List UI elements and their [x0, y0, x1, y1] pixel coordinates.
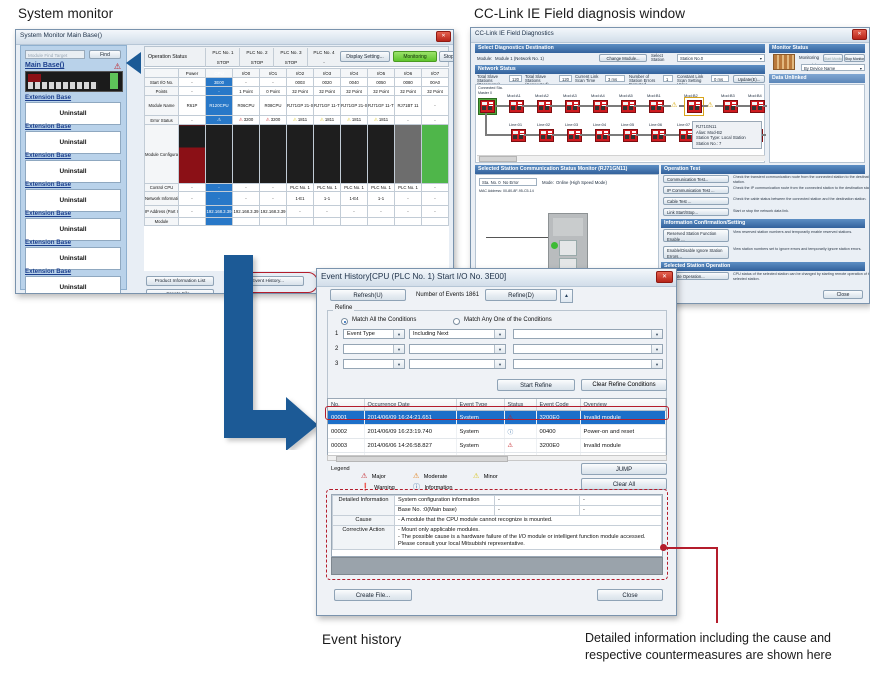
net-field-value-1: 120	[559, 75, 572, 82]
find-button[interactable]: Find	[89, 50, 121, 59]
line-node-01[interactable]	[511, 129, 526, 142]
station-node-b1[interactable]	[649, 100, 664, 113]
match-all-label: Match All the Conditions	[352, 317, 416, 323]
net-field-value-2: 3 ms	[605, 75, 625, 82]
station-node-a2[interactable]	[537, 100, 552, 113]
section-information-confirmation: Information Confirmation/Setting	[661, 219, 865, 228]
warning-triangle-icon: ⚠	[707, 102, 713, 109]
system-monitor-detail-panel: Operation Status PLC No. 1 STOP PLC No. …	[144, 46, 449, 271]
detail-highlight-dashed	[326, 489, 668, 580]
table-row-module-config: Module Configuration	[145, 125, 449, 184]
section-network-status: Network Status	[475, 65, 765, 74]
main-base-thumbnail	[25, 71, 123, 92]
cclink-titlebar: CC-Link IE Field Diagnostics ✕	[471, 28, 869, 43]
error-icon-major: ⚠	[217, 117, 221, 122]
ip-communication-test-desc: Check the IP communication route from th…	[733, 186, 870, 191]
line-node-06[interactable]	[651, 129, 666, 142]
refine-row-num-3: 3	[335, 361, 338, 367]
section-selected-station-operation: Selected Station Operation	[661, 262, 865, 271]
communication-test-button[interactable]: Communication Test...	[663, 175, 729, 183]
extension-base-1[interactable]: Extension BaseUninstall	[25, 94, 121, 125]
extension-base-6[interactable]: Extension BaseUninstall	[25, 239, 121, 270]
legend-side-panel	[769, 84, 865, 163]
select-station-label: Select Station	[651, 54, 675, 63]
refine-field-1[interactable]: Event Type▾	[343, 329, 405, 339]
match-any-label: Match Any One of the Conditions	[464, 317, 552, 323]
ignore-station-desc: View station numbers set to ignore error…	[733, 247, 870, 252]
plc-status-2: PLC No. 2 STOP	[239, 48, 274, 67]
operation-status-label: Operation Status	[148, 54, 187, 60]
error-icon-major: ⚠	[239, 117, 243, 122]
station-node-a1[interactable]	[509, 100, 524, 113]
line-node-03[interactable]	[567, 129, 582, 142]
update-button[interactable]: Update(E)...	[733, 75, 765, 83]
legend-label: Legend	[331, 466, 350, 472]
cclink-close-button[interactable]: Close	[823, 290, 863, 299]
link-start-stop-desc: Start or stop the network data link.	[733, 209, 870, 214]
selected-station-highlight[interactable]	[684, 97, 704, 116]
change-module-button[interactable]: Change Module...	[599, 54, 647, 62]
error-icon-minor: ⚠	[374, 117, 378, 122]
error-icon-minor: ⚠	[347, 117, 351, 122]
table-row: Control CPU - - - - PLC No. 1 PLC No. 1 …	[145, 184, 449, 192]
station-tooltip: RJ71GN11 Alias: Mod-B2 Station Type: Loc…	[692, 121, 762, 149]
number-of-events-label: Number of Events 1861	[416, 292, 479, 298]
table-header-row: Power CPU I/O0 I/O1 I/O2 I/O3 I/O4 I/O5 …	[145, 69, 449, 78]
section-select-destination: Select Diagnostics Destination	[475, 44, 765, 53]
enable-disable-ignore-station-button[interactable]: Enable/Disable Ignore Station Errors...	[663, 246, 729, 259]
selected-row-highlight	[325, 406, 669, 420]
station-node-a4[interactable]	[593, 100, 608, 113]
extension-base-7[interactable]: Extension BaseUninstall	[25, 268, 121, 294]
refine-row-num-2: 2	[335, 346, 338, 352]
table-row-error-status: Error Status - ⚠ ⚠ 3200 ⚠ 3200 ⚠ 1811 ⚠ …	[145, 116, 449, 125]
cclink-title: CC-Link IE Field Diagnostics	[475, 30, 554, 37]
table-row: Module Name R61P R120CPU R06CPU R08CPU R…	[145, 96, 449, 116]
module-value: Module 1 (Network No. 1)	[495, 56, 544, 61]
remote-operation-desc: CPU status of the selected station can b…	[733, 272, 870, 281]
station-no-field: Sta. No. 0 No Error	[479, 178, 537, 186]
event-history-title: Event History[CPU (PLC No. 1) Start I/O …	[321, 272, 506, 281]
device-name-select[interactable]: By Device Name▾	[801, 64, 865, 71]
clear-refine-conditions-button[interactable]	[581, 379, 667, 391]
table-row: IP Address (Part IPv4) - 192.168.3.39 19…	[145, 206, 449, 218]
refine-button[interactable]: Refine(D)	[485, 289, 557, 301]
table-row[interactable]: 00002 2014/06/09 16:23:19.740 System ⓘ 0…	[328, 425, 666, 439]
plc-status-3: PLC No. 3 STOP	[273, 48, 308, 67]
extension-base-2[interactable]: Extension BaseUninstall	[25, 123, 121, 154]
system-monitor-titlebar: System Monitor Main Base() ✕	[16, 30, 453, 45]
communication-test-desc: Check the transient communication route …	[733, 175, 870, 184]
legend-minor-icon: ⚠	[473, 473, 479, 480]
refine-field-3[interactable]: ▾	[343, 359, 405, 369]
master-station-node[interactable]	[478, 98, 497, 115]
operation-status-bar: Operation Status PLC No. 1 STOP PLC No. …	[144, 46, 449, 67]
table-row: Network Information (Part 3) - - - - 1-E…	[145, 192, 449, 206]
main-base-link[interactable]: Main Base()	[25, 62, 64, 69]
module-label: Module:	[477, 56, 492, 61]
table-row: Module	[145, 218, 449, 226]
callout-leader-vertical	[716, 547, 718, 623]
section-selected-station-monitor: Selected Station Communication Status Mo…	[475, 165, 659, 174]
system-monitor-title: System Monitor Main Base()	[20, 32, 102, 39]
table-row[interactable]: 00003 2014/06/06 14:26:58.827 System ⚠ 3…	[328, 439, 666, 453]
monitor-status-graphic	[773, 54, 795, 70]
line-node-04[interactable]	[595, 129, 610, 142]
refine-value-3[interactable]: ▾	[513, 359, 663, 369]
extension-base-3[interactable]: Extension BaseUninstall	[25, 152, 121, 183]
cclink-diagnostics-window: CC-Link IE Field Diagnostics ✕ Select Di…	[470, 27, 870, 304]
table-row: Points - - 1 Point 0 Point 32 Point 32 P…	[145, 87, 449, 96]
event-history-close-button[interactable]: Close	[597, 589, 663, 601]
refine-expand-icon[interactable]: ▲	[560, 289, 573, 303]
net-field-value-4: 0 ms	[711, 75, 729, 82]
reserved-station-function-button[interactable]: Reserved Station Function Enable ...	[663, 229, 729, 242]
connected-sta-label: Connected Sta.	[478, 86, 503, 90]
refine-operator-1[interactable]: Including Next▾	[409, 329, 506, 339]
match-all-radio[interactable]	[341, 318, 348, 325]
station-node-a5[interactable]	[621, 100, 636, 113]
net-field-value-3: 1	[663, 75, 673, 82]
refine-row-num-1: 1	[335, 331, 338, 337]
refine-value-2[interactable]: ▾	[513, 344, 663, 354]
error-icon-minor: ⚠	[320, 117, 324, 122]
diagram-hscrollbar[interactable]	[477, 155, 765, 161]
refresh-button[interactable]: Refresh(U)	[330, 289, 406, 301]
extension-base-5[interactable]: Extension BaseUninstall	[25, 210, 121, 241]
plc-status-1: PLC No. 1 STOP	[205, 48, 240, 67]
refine-operator-2[interactable]: ▾	[409, 344, 506, 354]
cable-test-button[interactable]: Cable Test ...	[663, 197, 729, 205]
stop-monitoring-button[interactable]: Stop Monitoring	[439, 51, 454, 62]
error-icon-minor: ⚠	[293, 117, 297, 122]
jump-button[interactable]: JUMP	[581, 463, 667, 475]
table-row: Start I/O No. - 3E00 - - 0003 0020 0040 …	[145, 78, 449, 87]
start-monitoring-button[interactable]: Start Monitoring	[823, 54, 843, 62]
refine-group-label: Refine	[333, 305, 354, 311]
plc-status-4: PLC No. 4 -	[307, 48, 340, 67]
status-icon-major: ⚠	[508, 443, 513, 449]
network-topology-canvas[interactable]: Connected Sta. Master 0 Mod:A1 Mod:A2 Mo…	[475, 84, 765, 163]
callout-leader-horizontal	[666, 547, 718, 549]
monitor-status-value: Monitoring	[799, 55, 819, 60]
cable-test-desc: Check the cable status between the conne…	[733, 197, 870, 202]
refine-value-1[interactable]: ▾	[513, 329, 663, 339]
warning-triangle-icon: ⚠	[114, 62, 121, 71]
caption-system-monitor: System monitor	[18, 6, 113, 21]
section-monitor-status: Monitor Status	[769, 44, 865, 53]
create-file-button[interactable]: Create File...	[334, 589, 412, 601]
caption-callout: Detailed information including the cause…	[585, 630, 865, 664]
mac-label: MAC Address: 00-80-8F-95-C5-14	[479, 189, 534, 193]
data-unlinked-label: Data Unlinked	[769, 74, 865, 83]
start-refine-button[interactable]: Start Refine	[497, 379, 575, 391]
event-history-window: Event History[CPU (PLC No. 1) Start I/O …	[316, 268, 677, 616]
close-icon[interactable]: ✕	[656, 271, 673, 283]
module-find-input[interactable]: Module Find Target	[25, 50, 85, 59]
stop-monitoring-button[interactable]: Stop Monitoring	[844, 54, 865, 62]
find-row: Module Find Target Find	[25, 50, 121, 59]
mode-value: Online (High Speed Mode)	[556, 180, 607, 185]
refine-field-2[interactable]: ▾	[343, 344, 405, 354]
master-label: Master 0	[478, 91, 492, 95]
match-any-radio[interactable]	[453, 318, 460, 325]
status-icon-information: ⓘ	[508, 430, 514, 436]
system-monitor-base-list: Module Find Target Find Main Base() ⚠ Ex…	[20, 45, 127, 290]
caption-event-history: Event history	[322, 632, 401, 647]
event-history-titlebar: Event History[CPU (PLC No. 1) Start I/O …	[317, 269, 676, 287]
net-field-value-0: 120	[509, 75, 522, 82]
legend-minor: ⚠ Minor	[473, 465, 498, 483]
ip-communication-test-button[interactable]: IP Communication Test ...	[663, 186, 729, 194]
line-node-05[interactable]	[623, 129, 638, 142]
refine-operator-3[interactable]: ▾	[409, 359, 506, 369]
net-field-label-2: Current Link Scan Time	[575, 75, 603, 83]
station-node-a3[interactable]	[565, 100, 580, 113]
close-icon[interactable]: ✕	[436, 31, 451, 42]
event-table-hscrollbar[interactable]	[327, 455, 667, 461]
station-node-b4[interactable]	[750, 100, 765, 113]
close-icon[interactable]: ✕	[852, 29, 867, 40]
mode-label: Mode:	[542, 180, 554, 185]
station-node-b3[interactable]	[723, 100, 738, 113]
extension-base-4[interactable]: Extension BaseUninstall	[25, 181, 121, 212]
line-node-02[interactable]	[539, 129, 554, 142]
link-start-stop-button[interactable]: Link Start/Stop...	[663, 208, 729, 216]
monitoring-button[interactable]: Monitoring	[393, 51, 437, 62]
section-operation-test: Operation Test	[661, 165, 865, 174]
display-setting-button[interactable]: Display Setting...	[340, 51, 390, 62]
collapse-arrow-icon[interactable]	[126, 52, 141, 74]
reserved-station-desc: View reserved station numbers and tempor…	[733, 230, 870, 235]
warning-triangle-icon: ⚠	[671, 102, 677, 109]
select-station-dropdown[interactable]: Station No.0▾	[677, 54, 765, 62]
error-icon-major: ⚠	[266, 117, 270, 122]
caption-cclink: CC-Link IE Field diagnosis window	[474, 6, 685, 21]
module-status-table: Power CPU I/O0 I/O1 I/O2 I/O3 I/O4 I/O5 …	[144, 68, 449, 226]
